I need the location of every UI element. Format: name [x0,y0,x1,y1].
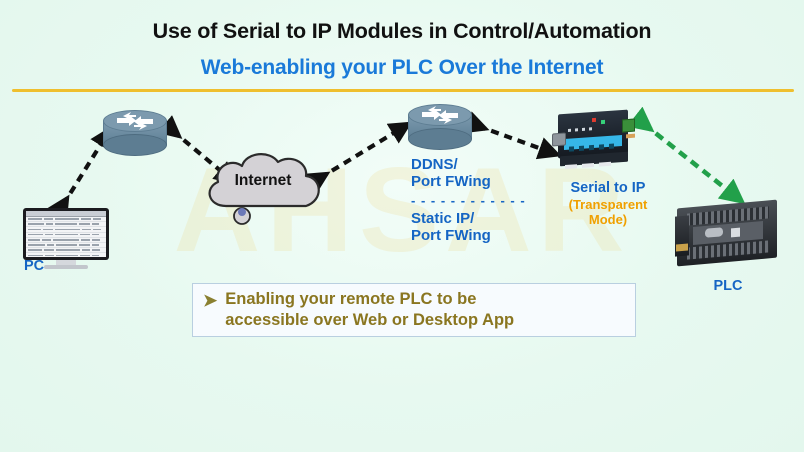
router-icon-local [103,110,167,158]
callout-text: Enabling your remote PLC to be accessibl… [225,289,514,332]
bullet-arrow-icon: ➤ [203,290,217,311]
router-arrows-glyph [103,110,167,132]
serial-module-label: Serial to IP [553,180,663,197]
ddns-line-4: Port FWing [411,227,526,244]
plc-rj45-port [731,228,740,238]
arrow-cloud-to-router2 [320,128,402,178]
router-arrows-glyph [408,104,472,126]
plc-module-icon [675,200,781,268]
plc-label: PLC [675,278,781,295]
ddns-line-2: Port FWing [411,173,526,190]
ddns-separator: - - - - - - - - - - - - [411,191,526,211]
plc-db9-port [705,227,723,238]
pc-label: PC [24,258,44,275]
arrow-pc-to-router [63,136,106,205]
slide-canvas: AHSAR Use of Serial to IP Modules in Con… [0,0,804,452]
screen-table-row [26,253,106,257]
router-bottom [103,134,167,156]
remote-router-text-block: DDNS/ Port FWing - - - - - - - - - - - -… [411,156,526,245]
header-divider [12,89,794,92]
ddns-line-1: DDNS/ [411,156,526,173]
serial-to-ip-module-icon [552,110,634,172]
serial-module-mode-label: (Transparent Mode) [548,198,668,228]
router-bottom [408,128,472,150]
module-led-green [601,120,605,124]
callout-line-2: accessible over Web or Desktop App [225,311,514,329]
cloud-label: Internet [198,172,328,190]
monitor-stand-base [44,265,88,269]
router-icon-remote [408,104,472,152]
module-terminal-block [622,119,635,133]
page-subtitle: Web-enabling your PLC Over the Internet [0,56,804,80]
plc-gold-connector [676,243,688,251]
monitor-screen [26,211,106,257]
module-db9-port [552,133,566,147]
module-led-red [592,118,596,122]
module-antenna-connector [626,134,635,139]
callout-box: ➤ Enabling your remote PLC to be accessi… [192,283,636,337]
callout-line-1: Enabling your remote PLC to be [225,290,476,308]
arrow-router2-to-module [478,126,550,152]
desktop-monitor-icon [23,208,109,260]
ddns-line-3: Static IP/ [411,210,526,227]
page-title: Use of Serial to IP Modules in Control/A… [0,19,804,44]
